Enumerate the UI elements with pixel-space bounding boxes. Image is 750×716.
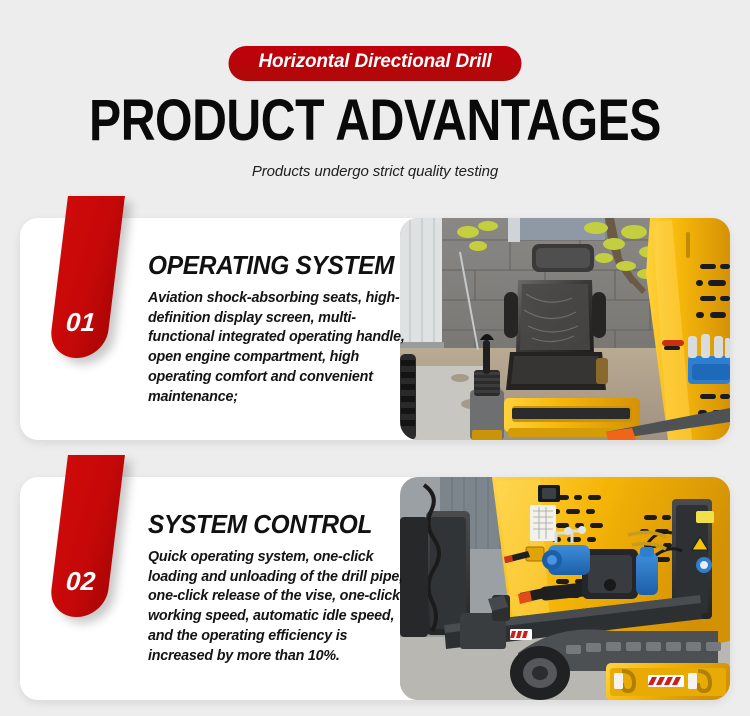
advantage-card: 02 SYSTEM CONTROL Quick operating system… xyxy=(20,477,730,700)
page-header: Horizontal Directional Drill PRODUCT ADV… xyxy=(0,0,750,196)
card-text-block: SYSTEM CONTROL Quick operating system, o… xyxy=(148,511,416,666)
card-number-label: 01 xyxy=(51,307,110,338)
operator-seat-photo xyxy=(400,218,730,440)
drill-control-assembly-photo xyxy=(400,477,730,700)
advantage-card: 01 OPERATING SYSTEM Aviation shock-absor… xyxy=(20,218,730,440)
operator-seat-illustration xyxy=(400,218,730,440)
drill-control-illustration xyxy=(400,477,730,700)
card-number-label: 02 xyxy=(51,566,110,597)
page-subtitle: Products undergo strict quality testing xyxy=(0,163,750,181)
card-number-badge: 02 xyxy=(48,455,125,617)
page-title: PRODUCT ADVANTAGES xyxy=(64,92,687,150)
category-pill: Horizontal Directional Drill xyxy=(229,46,522,81)
card-text-block: OPERATING SYSTEM Aviation shock-absorbin… xyxy=(148,252,416,407)
card-description: Quick operating system, one-click loadin… xyxy=(148,548,416,666)
card-title: OPERATING SYSTEM xyxy=(148,252,400,278)
card-title: SYSTEM CONTROL xyxy=(148,511,400,537)
card-description: Aviation shock-absorbing seats, high-def… xyxy=(148,289,416,407)
card-number-badge: 01 xyxy=(48,196,125,358)
